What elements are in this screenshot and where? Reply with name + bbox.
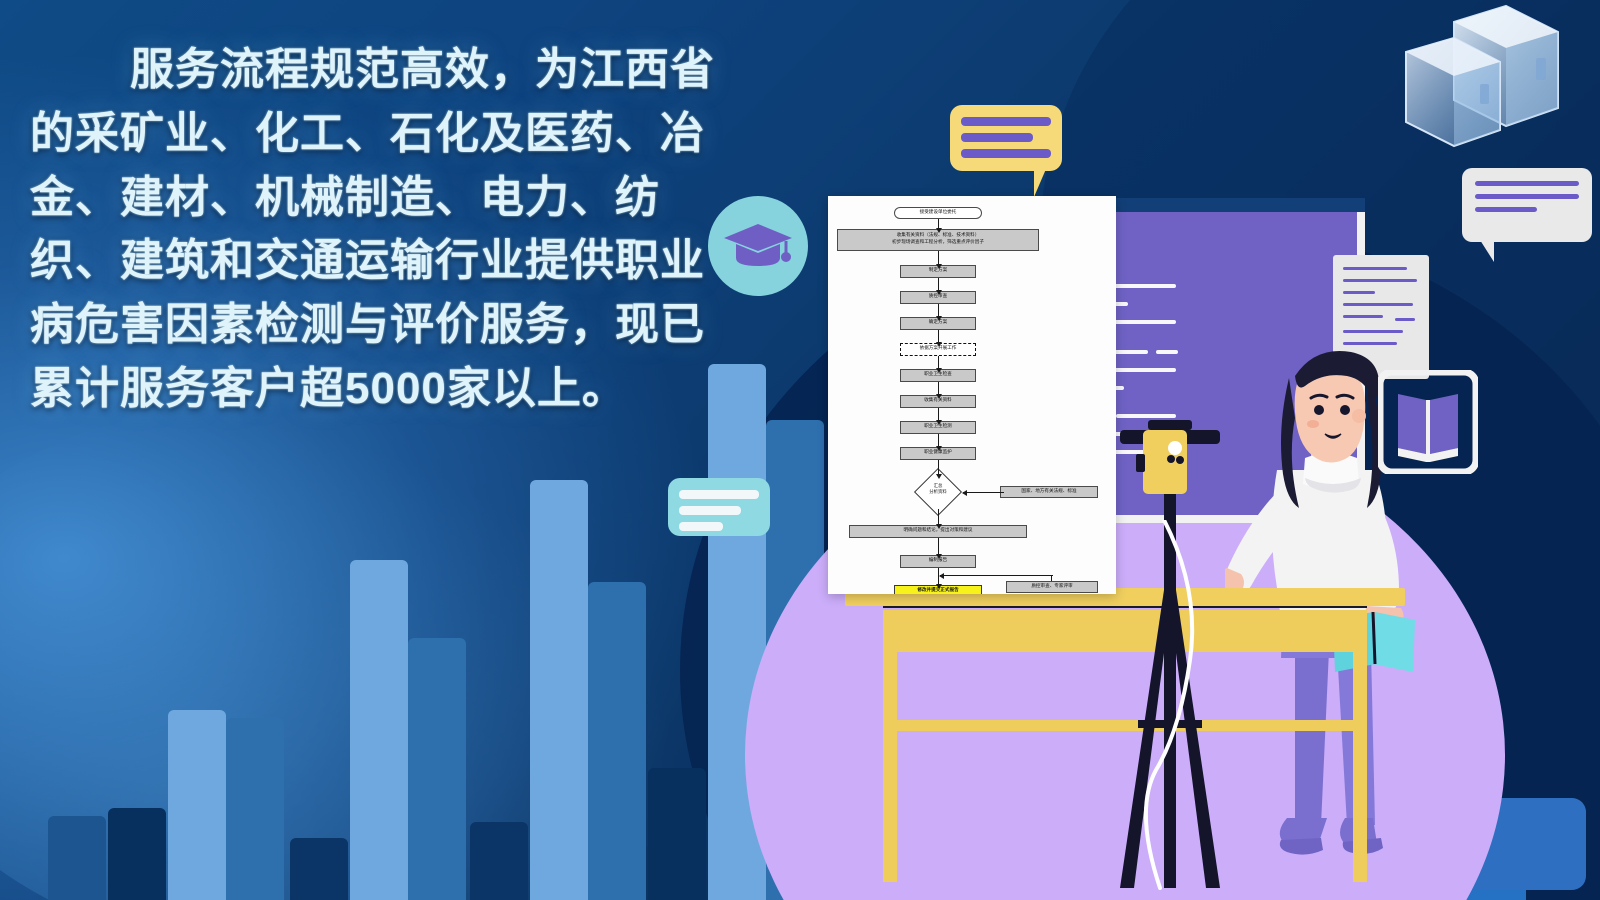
flowchart-node-label: 编制报告 xyxy=(929,558,947,565)
flowchart-node-label: 国家、地方有关法规、标准 xyxy=(1021,489,1076,496)
flowchart-arrow xyxy=(938,538,939,555)
graduation-cap-badge xyxy=(708,196,808,296)
desk-leg-right xyxy=(1353,652,1367,882)
chart-bar xyxy=(530,480,588,900)
board-chalk-line xyxy=(1156,350,1178,354)
flowchart-node-label: 收集有关资料（法规、标准、技术资料）初步现场调查和工程分析，筛选重点评价因子 xyxy=(892,233,984,246)
chart-bar xyxy=(588,582,646,900)
flowchart-node-label: 确定方案 xyxy=(929,320,947,327)
open-book-icon xyxy=(1378,370,1478,474)
flowchart-arrow xyxy=(938,304,939,317)
board-chalk-line xyxy=(1116,414,1176,418)
headline-line: 服务流程规范高效，为江西省 xyxy=(30,38,770,102)
flowchart-node: 接受建设单位委托 xyxy=(894,207,982,219)
flowchart-node-label: 职业卫生检查 xyxy=(924,372,952,379)
flowchart-node-label: 质控审查 xyxy=(929,294,947,301)
flowchart-arrow xyxy=(938,356,939,369)
camera-icon xyxy=(1135,426,1197,522)
chart-bar xyxy=(408,638,466,900)
flowchart-arrow xyxy=(938,382,939,395)
flowchart-arrow xyxy=(963,492,1004,493)
flowchart-node: 国家、地方有关法规、标准 xyxy=(1000,486,1098,498)
chart-bar xyxy=(350,560,408,900)
cable xyxy=(1140,520,1270,890)
flowchart-node-label: 职业健康监护 xyxy=(924,450,952,457)
flowchart-arrow xyxy=(938,330,939,343)
flowchart-node-label: 汇总分析资料 xyxy=(912,484,964,495)
flowchart-arrow xyxy=(938,251,939,265)
flowchart-node-label: 接受建设单位委托 xyxy=(920,210,957,217)
page-headline: 服务流程规范高效，为江西省 的采矿业、化工、石化及医药、冶 金、建材、机械制造、… xyxy=(30,38,770,421)
graduation-cap-icon xyxy=(722,220,794,272)
headline-line: 病危害因素检测与评价服务，现已 xyxy=(30,293,770,357)
headline-line: 累计服务客户超5000家以上。 xyxy=(30,357,770,421)
headline-line: 金、建材、机械制造、电力、纺 xyxy=(30,166,770,230)
chart-bar xyxy=(290,838,348,900)
chart-bar xyxy=(168,710,226,900)
flowchart-paper: 接受建设单位委托收集有关资料（法规、标准、技术资料）初步现场调查和工程分析，筛选… xyxy=(828,196,1116,594)
flowchart-node-label: 收集有关资料 xyxy=(924,398,952,405)
flowchart-arrow xyxy=(938,278,939,291)
text-card-icon xyxy=(668,478,770,536)
chart-bar xyxy=(470,822,528,900)
chart-bar xyxy=(648,768,706,900)
illustration-scene: 接受建设单位委托收集有关资料（法规、标准、技术资料）初步现场调查和工程分析，筛选… xyxy=(745,190,1600,900)
chart-bar xyxy=(108,808,166,900)
flowchart-arrow xyxy=(938,509,939,525)
desk-leg-left xyxy=(883,652,897,882)
flowchart: 接受建设单位委托收集有关资料（法规、标准、技术资料）初步现场调查和工程分析，筛选… xyxy=(834,203,1110,587)
chart-bar xyxy=(48,816,106,900)
flowchart-arrow xyxy=(938,434,939,447)
flowchart-node-label: 职业卫生检测 xyxy=(924,424,952,431)
headline-line: 的采矿业、化工、石化及医药、冶 xyxy=(30,102,770,166)
flowchart-arrow xyxy=(938,219,939,229)
flowchart-arrow xyxy=(940,575,1053,576)
stacked-books-icon xyxy=(1378,4,1598,184)
flowchart-node: 质控审查、专家评审 xyxy=(1006,581,1098,593)
flowchart-arrow xyxy=(938,460,939,475)
flowchart-node-label: 依据方案开展工作 xyxy=(920,346,957,353)
poster-canvas: 接受建设单位委托收集有关资料（法规、标准、技术资料）初步现场调查和工程分析，筛选… xyxy=(0,0,1600,900)
flowchart-node-label: 质控审查、专家评审 xyxy=(1031,584,1072,591)
speech-bubble-icon xyxy=(950,105,1062,171)
flowchart-node-label: 修改并提交正式报告 xyxy=(917,588,958,594)
headline-line: 织、建筑和交通运输行业提供职业 xyxy=(30,229,770,293)
flowchart-node-label: 制定方案 xyxy=(929,268,947,275)
flowchart-node-label: 明确问题和结论，提出对策和建议 xyxy=(904,528,973,535)
chart-bar xyxy=(226,718,284,900)
flowchart-arrow xyxy=(938,408,939,421)
